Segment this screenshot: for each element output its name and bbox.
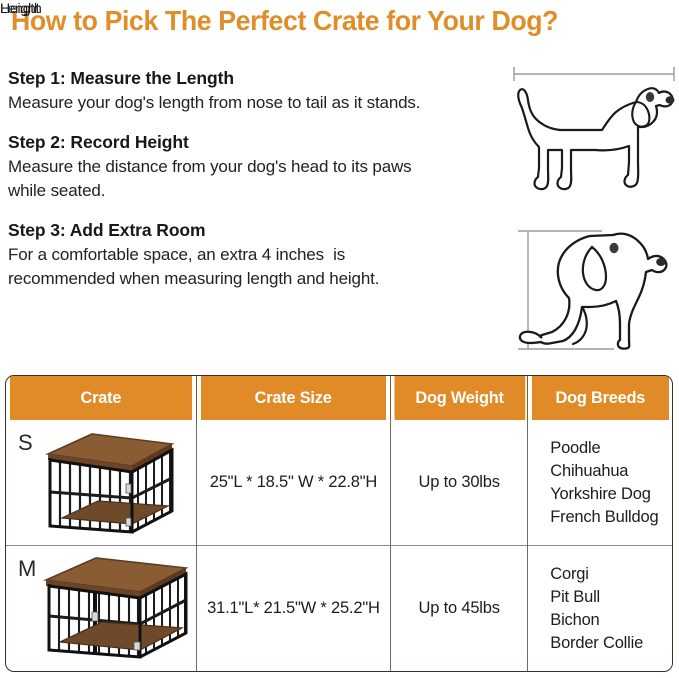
step-3: Step 3: Add Extra Room For a comfortable… bbox=[8, 218, 488, 291]
column-header-dog-weight: Dog Weight bbox=[393, 376, 525, 420]
step-3-body: For a comfortable space, an extra 4 inch… bbox=[8, 243, 488, 291]
step-2-body: Measure the distance from your dog's hea… bbox=[8, 155, 488, 203]
crate-size-cell-small: 25"L * 18.5" W * 22.8"H bbox=[196, 420, 390, 546]
dog-weight-cell-medium: Up to 45lbs bbox=[391, 546, 528, 672]
crate-size-value: 25"L * 18.5" W * 22.8"H bbox=[197, 473, 390, 492]
height-measure-label: Height bbox=[0, 0, 39, 16]
dog-weight-cell-small: Up to 30lbs bbox=[391, 420, 528, 546]
size-letter-m: M bbox=[18, 556, 36, 582]
crate-size-cell-medium: 31.1"L* 21.5"W * 25.2"H bbox=[196, 546, 390, 672]
step-2-heading: Step 2: Record Height bbox=[8, 130, 488, 155]
column-header-crate-size: Crate Size bbox=[200, 376, 387, 420]
crate-cell-small: S bbox=[6, 420, 196, 546]
dog-crate-small-photo bbox=[40, 426, 180, 538]
dog-breeds-cell-small: Poodle Chihuahua Yorkshire Dog French Bu… bbox=[528, 420, 672, 546]
steps-list: Step 1: Measure the Length Measure your … bbox=[8, 66, 488, 306]
page-title: How to Pick The Perfect Crate for Your D… bbox=[11, 5, 651, 37]
dog-standing-outline-icon bbox=[498, 50, 678, 205]
column-header-crate: Crate bbox=[10, 376, 193, 420]
dog-weight-value: Up to 30lbs bbox=[391, 473, 527, 492]
table-header-row: Crate Crate Size Dog Weight Dog Breeds bbox=[6, 376, 672, 420]
column-header-dog-breeds: Dog Breeds bbox=[531, 376, 669, 420]
size-letter-s: S bbox=[18, 430, 32, 456]
dog-crate-medium-photo bbox=[40, 552, 192, 664]
dog-breeds-cell-medium: Corgi Pit Bull Bichon Border Collie bbox=[528, 546, 672, 672]
table-row: M bbox=[6, 546, 672, 672]
step-1-heading: Step 1: Measure the Length bbox=[8, 66, 488, 91]
table-row: S bbox=[6, 420, 672, 546]
crate-cell-medium: M bbox=[6, 546, 196, 672]
step-3-heading: Step 3: Add Extra Room bbox=[8, 218, 488, 243]
crate-comparison-table: Crate Crate Size Dog Weight Dog Breeds S bbox=[5, 375, 673, 672]
dog-sitting-outline-icon bbox=[462, 212, 678, 364]
step-2: Step 2: Record Height Measure the distan… bbox=[8, 130, 488, 203]
step-1-body: Measure your dog's length from nose to t… bbox=[8, 91, 488, 115]
crate-size-value: 31.1"L* 21.5"W * 25.2"H bbox=[197, 599, 390, 618]
step-1: Step 1: Measure the Length Measure your … bbox=[8, 66, 488, 115]
dog-weight-value: Up to 45lbs bbox=[391, 599, 527, 618]
